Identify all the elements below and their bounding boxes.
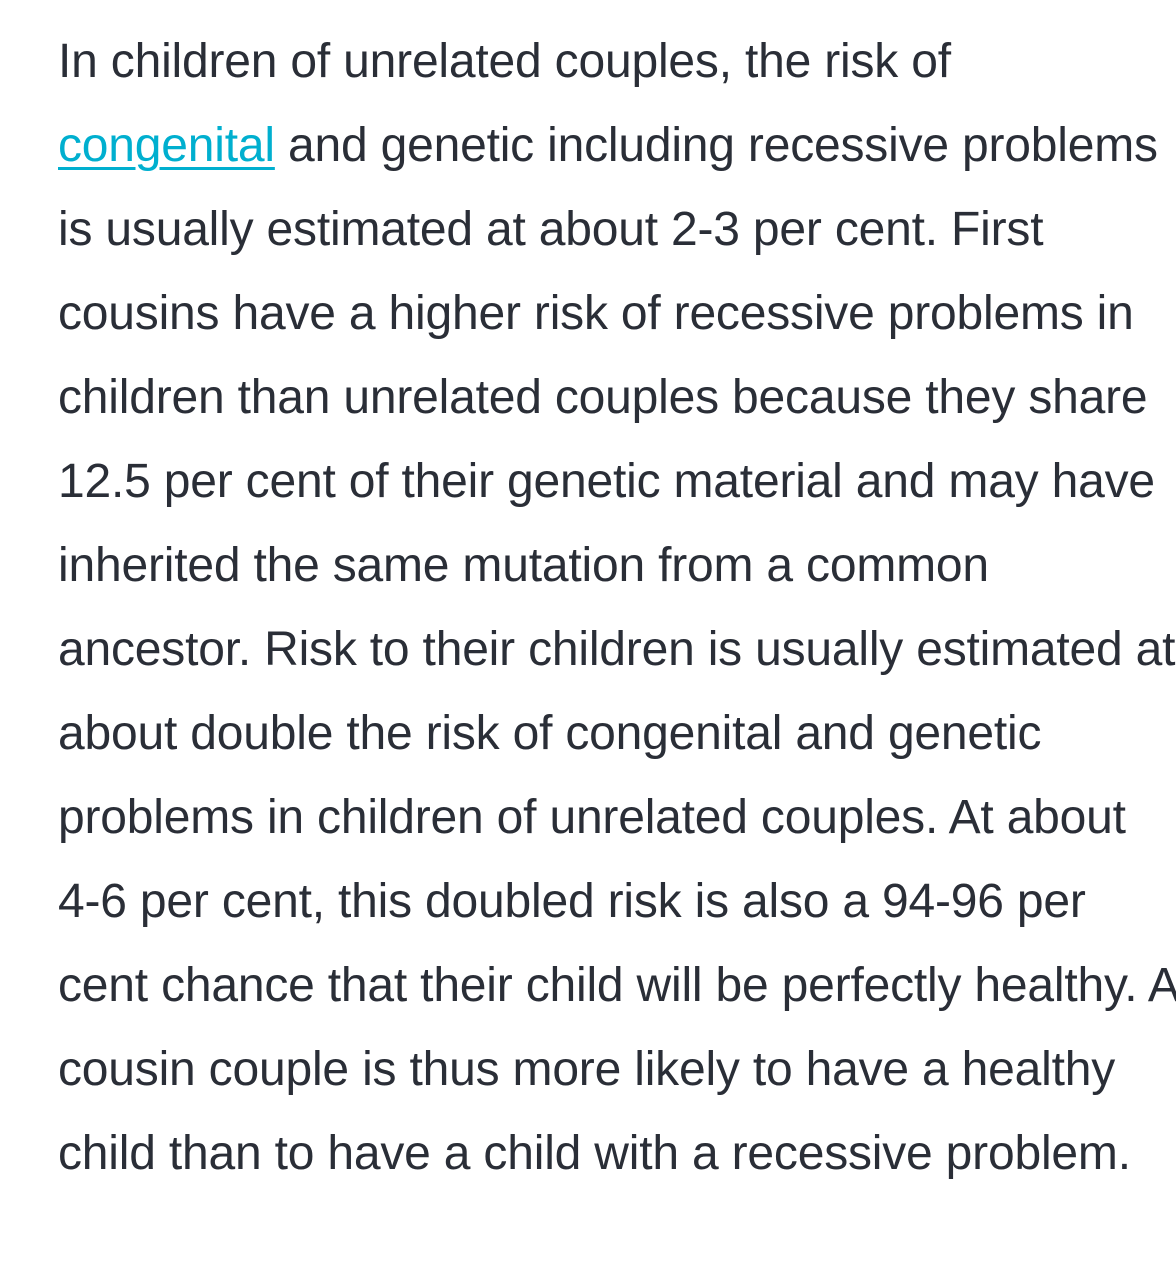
paragraph-text-before-link: In children of unrelated couples, the ri… (58, 35, 951, 88)
article-body: In children of unrelated couples, the ri… (0, 20, 1176, 1196)
congenital-link[interactable]: congenital (58, 119, 275, 172)
page-container: In children of unrelated couples, the ri… (0, 0, 1176, 1288)
body-paragraph: In children of unrelated couples, the ri… (58, 20, 1176, 1196)
paragraph-text-after-link: and genetic including recessive problems… (58, 119, 1176, 1180)
